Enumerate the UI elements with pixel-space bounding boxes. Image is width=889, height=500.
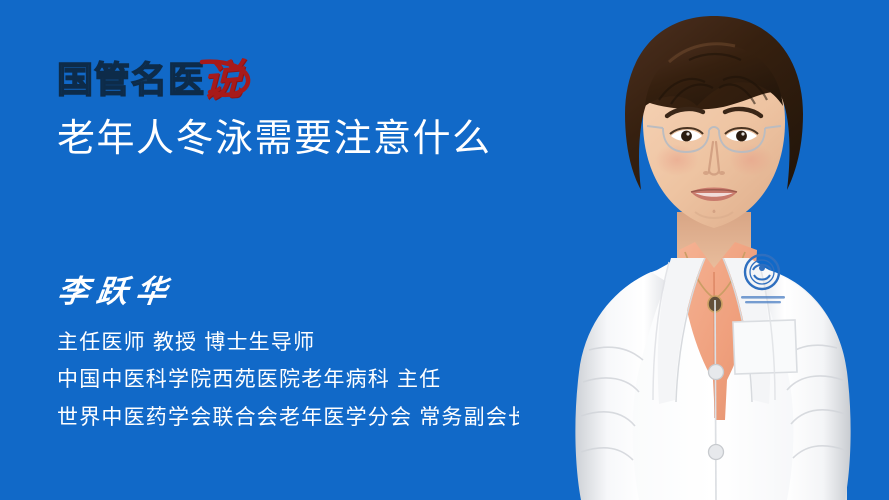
slide-canvas: 国管名医 说 老年人冬泳需要注意什么 李跃华 主任医师 教授 博士生导师 中国中… <box>0 0 889 500</box>
credential-line-3: 世界中医药学会联合会老年医学分会 常务副会长 <box>57 405 530 431</box>
chest-pocket <box>733 320 797 374</box>
speaker-credentials: 主任医师 教授 博士生导师 中国中医科学院西苑医院老年病科 主任 世界中医药学会… <box>57 330 530 431</box>
speaker-portrait <box>519 0 889 500</box>
brand-logo-text: 国管名医 <box>57 63 205 99</box>
page-title: 老年人冬泳需要注意什么 <box>57 117 492 163</box>
credential-line-2: 中国中医科学院西苑医院老年病科 主任 <box>57 367 530 393</box>
credential-line-1: 主任医师 教授 博士生导师 <box>57 330 530 356</box>
brand-logo-accent-char: 说 <box>202 59 244 104</box>
brand-logo: 国管名医 说 <box>57 47 243 99</box>
speaker-name: 李跃华 <box>55 266 178 311</box>
